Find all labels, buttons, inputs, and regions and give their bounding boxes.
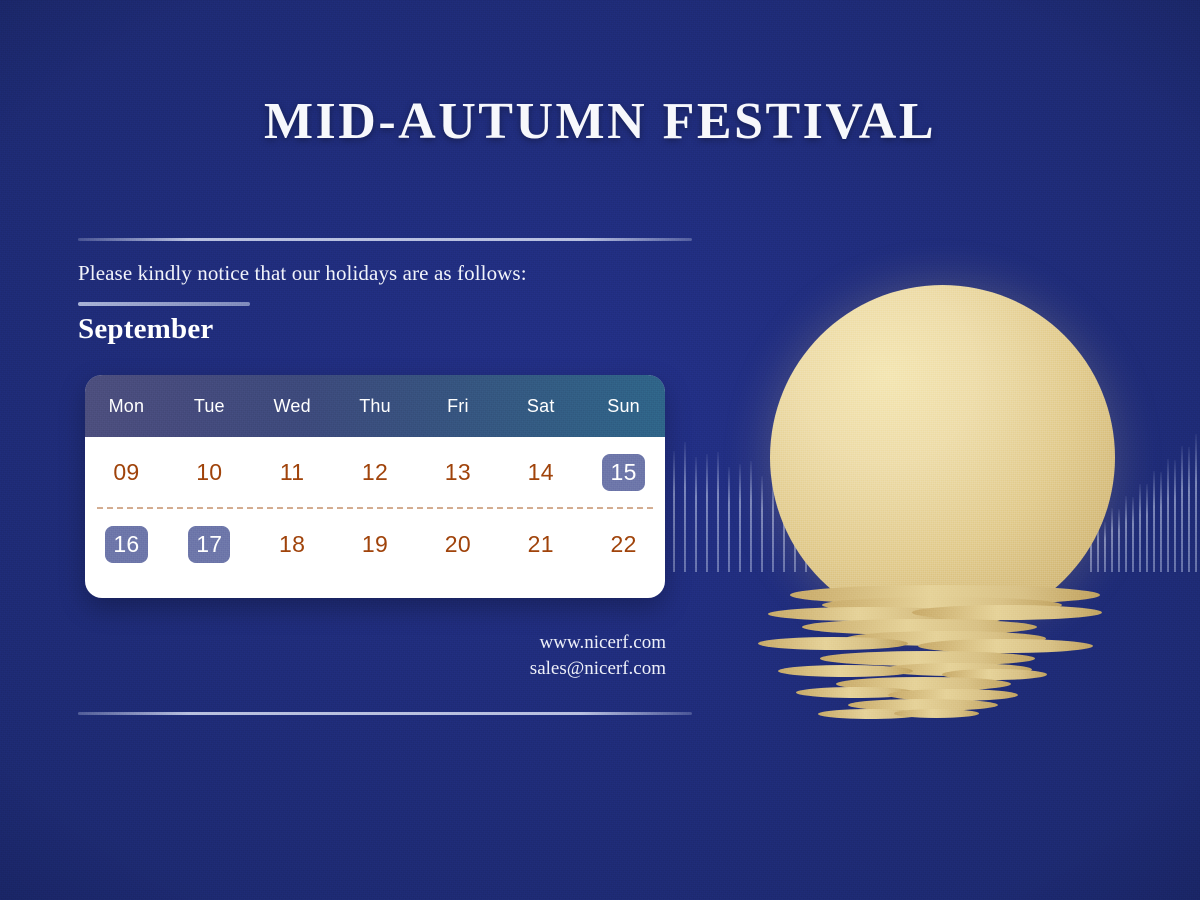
- reflection-ripple: [758, 637, 908, 650]
- decoration-line: [1139, 484, 1141, 572]
- calendar-cell[interactable]: 13: [416, 457, 499, 488]
- weekday-header-mon: Mon: [85, 396, 168, 417]
- date-label[interactable]: 09: [106, 457, 146, 488]
- calendar-row: 16171819202122: [85, 509, 665, 579]
- calendar-cell[interactable]: 20: [416, 529, 499, 560]
- decoration-line: [1125, 496, 1127, 572]
- poster-canvas: MID-AUTUMN FESTIVAL Please kindly notice…: [0, 0, 1200, 900]
- decoration-line: [1111, 508, 1113, 572]
- moon-texture: [770, 285, 1115, 630]
- decoration-line: [728, 467, 730, 572]
- date-label[interactable]: 14: [521, 457, 561, 488]
- calendar-row-separator: [97, 507, 653, 509]
- decoration-line: [695, 457, 697, 572]
- decoration-line: [673, 451, 675, 572]
- date-label[interactable]: 18: [272, 529, 312, 560]
- decoration-line: [1188, 447, 1190, 572]
- reflection-ripple: [778, 665, 913, 677]
- decoration-line: [750, 461, 752, 572]
- date-label[interactable]: 21: [521, 529, 561, 560]
- decoration-line: [1132, 497, 1134, 572]
- reflection-ripple: [894, 709, 979, 718]
- calendar-card: MonTueWedThuFriSatSun 091011121314151617…: [85, 375, 665, 598]
- holiday-date-badge[interactable]: 16: [105, 526, 147, 563]
- calendar-weekday-header: MonTueWedThuFriSatSun: [85, 375, 665, 437]
- calendar-cell[interactable]: 15: [582, 454, 665, 491]
- decoration-line: [684, 442, 686, 572]
- calendar-row: 09101112131415: [85, 437, 665, 507]
- calendar-cell[interactable]: 19: [334, 529, 417, 560]
- divider-bottom: [78, 712, 692, 715]
- date-label[interactable]: 19: [355, 529, 395, 560]
- calendar-cell[interactable]: 14: [499, 457, 582, 488]
- decoration-line: [1153, 471, 1155, 572]
- contact-email[interactable]: sales@nicerf.com: [530, 656, 666, 682]
- decoration-line: [717, 452, 719, 572]
- weekday-header-wed: Wed: [251, 396, 334, 417]
- moon-water-reflection: [650, 585, 1200, 730]
- divider-top: [78, 238, 692, 241]
- calendar-cell[interactable]: 18: [251, 529, 334, 560]
- decoration-line: [1160, 472, 1162, 572]
- page-title: MID-AUTUMN FESTIVAL: [0, 92, 1200, 151]
- date-label[interactable]: 10: [189, 457, 229, 488]
- holiday-date-badge[interactable]: 17: [188, 526, 230, 563]
- calendar-cell[interactable]: 09: [85, 457, 168, 488]
- date-label[interactable]: 20: [438, 529, 478, 560]
- date-label[interactable]: 12: [355, 457, 395, 488]
- weekday-header-sun: Sun: [582, 396, 665, 417]
- full-moon-icon: [770, 285, 1115, 630]
- contact-block: www.nicerf.com sales@nicerf.com: [530, 630, 666, 682]
- contact-website[interactable]: www.nicerf.com: [530, 630, 666, 656]
- decoration-line: [761, 476, 763, 572]
- decoration-line: [1195, 434, 1197, 572]
- decoration-line: [739, 464, 741, 572]
- date-label[interactable]: 22: [603, 529, 643, 560]
- decoration-line: [1146, 484, 1148, 572]
- weekday-header-thu: Thu: [334, 396, 417, 417]
- decoration-line: [1118, 509, 1120, 572]
- calendar-cell[interactable]: 11: [251, 457, 334, 488]
- holiday-notice-text: Please kindly notice that our holidays a…: [78, 261, 527, 286]
- decoration-line: [1167, 459, 1169, 572]
- calendar-body: 0910111213141516171819202122: [85, 437, 665, 579]
- calendar-cell[interactable]: 17: [168, 526, 251, 563]
- date-label[interactable]: 13: [438, 457, 478, 488]
- decoration-line: [1104, 522, 1106, 572]
- moon-artwork: [650, 250, 1200, 730]
- month-heading: September: [78, 313, 214, 346]
- weekday-header-tue: Tue: [168, 396, 251, 417]
- calendar-cell[interactable]: 10: [168, 457, 251, 488]
- calendar-cell[interactable]: 12: [334, 457, 417, 488]
- reflection-ripple: [912, 605, 1102, 620]
- decoration-line: [1181, 446, 1183, 572]
- calendar-cell[interactable]: 21: [499, 529, 582, 560]
- date-label[interactable]: 11: [273, 457, 311, 488]
- divider-short: [78, 302, 250, 306]
- weekday-header-sat: Sat: [499, 396, 582, 417]
- weekday-header-fri: Fri: [416, 396, 499, 417]
- decoration-line: [1174, 460, 1176, 572]
- decoration-line: [706, 454, 708, 572]
- holiday-date-badge[interactable]: 15: [602, 454, 644, 491]
- calendar-cell[interactable]: 16: [85, 526, 168, 563]
- calendar-cell[interactable]: 22: [582, 529, 665, 560]
